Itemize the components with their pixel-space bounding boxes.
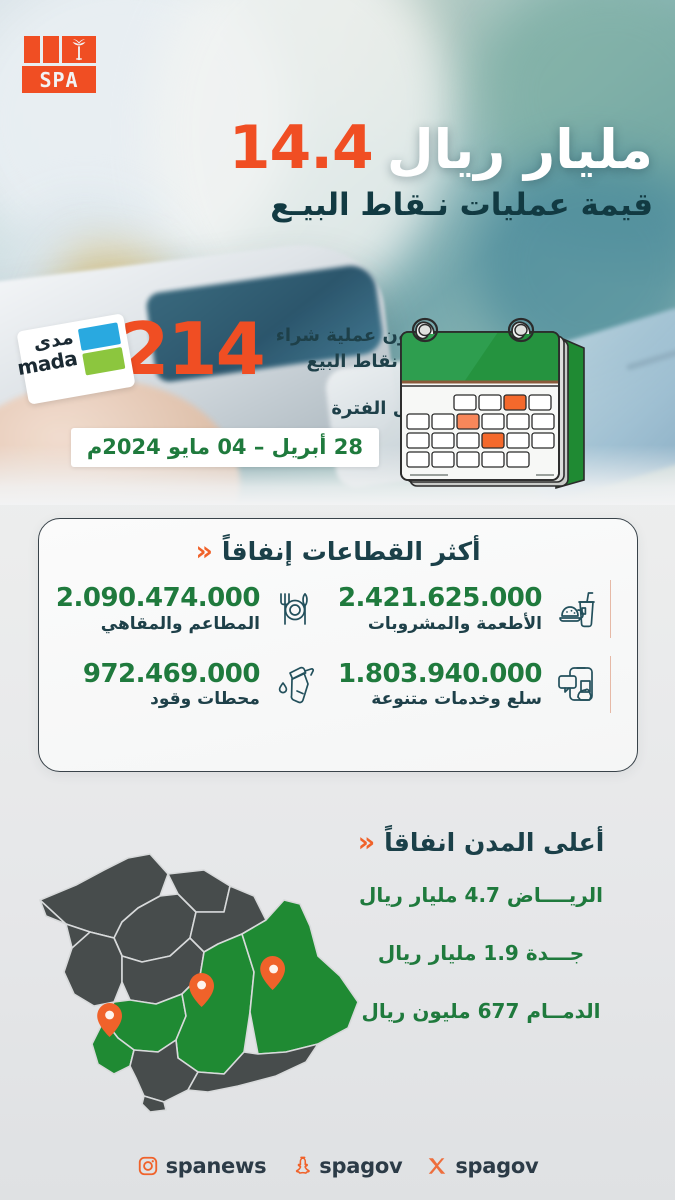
sector-text-fuel-stations: 972.469.000 محطات وقود [83,660,260,710]
footer-social-bar: spanews spagov spagov [0,1154,675,1178]
top-sectors-grid: 2.421.625.000 الأطعمة والمشروبات [65,580,611,713]
hero-headline: مليار ريال 14.4 قيمة عمليات نـقاط البيـع [229,118,653,225]
pos-count-value: 214 [119,316,263,382]
sector-value: 1.803.940.000 [338,660,542,689]
sector-name: المطاعم والمقاهي [56,614,260,634]
spa-logo-arabic-block [24,36,40,63]
sector-text-misc-goods-services: 1.803.940.000 سلع وخدمات متنوعة [338,660,542,710]
pos-period-badge: 28 أبريل – 04 مايو 2024م [71,428,379,467]
social-handle: spanews [166,1154,267,1178]
sector-item-restaurants-cafes: 2.090.474.000 المطاعم والمقاهي [46,580,328,638]
calendar-icon [388,312,603,502]
spa-logo-text: SPA [22,66,96,93]
mobile-services-icon [554,661,600,707]
spa-logo-latin-row: SPA [22,66,96,93]
mada-bar-green [82,347,125,376]
sector-name: سلع وخدمات متنوعة [338,689,542,709]
city-row: الريــــاض 4.7 مليار ريال [321,883,641,907]
sector-value: 2.090.474.000 [56,584,260,613]
sector-value: 2.421.625.000 [338,584,542,613]
sector-value: 972.469.000 [83,660,260,689]
instagram-icon [137,1155,159,1177]
sector-item-food-beverages: 2.421.625.000 الأطعمة والمشروبات [328,580,611,638]
hero-headline-row: مليار ريال 14.4 [229,118,653,178]
top-cities-heading-text: أعلى المدن انفاقاً [384,828,604,857]
top-cities-heading: أعلى المدن انفاقاً « [321,828,641,857]
mada-bar-blue [78,322,121,351]
city-row: الدمــام 677 مليون ريال [321,999,641,1023]
spa-logo: SPA [22,36,96,98]
top-cities-section: أعلى المدن انفاقاً « الريــــاض 4.7 مليا… [321,828,641,1057]
infographic-page: SPA مليار ريال 14.4 قيمة عمليات نـقاط ال… [0,0,675,1200]
fuel-nozzle-icon [272,661,318,707]
chevron-double-left-icon: « [358,829,375,856]
spa-logo-arabic-block [43,36,59,63]
sector-item-fuel-stations: 972.469.000 محطات وقود [46,656,328,714]
hero-subtitle: قيمة عمليات نـقاط البيـع [229,186,653,225]
top-cities-list: الريــــاض 4.7 مليار ريال جـــدة 1.9 ملي… [321,883,641,1023]
hero-value: 14.4 [229,118,373,178]
spa-logo-arabic-row [22,36,96,63]
mada-logo-bars [78,320,126,375]
sector-text-food-beverages: 2.421.625.000 الأطعمة والمشروبات [338,584,542,634]
social-account-snapchat[interactable]: spagov [290,1154,402,1178]
x-twitter-icon [426,1155,448,1177]
city-row: جـــدة 1.9 مليار ريال [321,941,641,965]
sector-text-restaurants-cafes: 2.090.474.000 المطاعم والمقاهي [56,584,260,634]
hero-unit: مليار ريال [387,123,653,177]
burger-drink-icon [554,586,600,632]
top-sectors-card: أكثر القطاعات إنفاقاً « [38,518,638,772]
x-glyph [426,1155,448,1177]
top-sectors-heading: أكثر القطاعات إنفاقاً « [65,537,611,566]
spa-logo-wordmark: SPA [22,66,96,93]
social-handle: spagov [319,1154,402,1178]
social-handle: spagov [455,1154,538,1178]
social-account-x-twitter[interactable]: spagov [426,1154,538,1178]
sector-name: الأطعمة والمشروبات [338,614,542,634]
sector-name: محطات وقود [83,689,260,709]
social-account-instagram[interactable]: spanews [137,1154,267,1178]
chevron-double-left-icon: « [195,538,212,565]
mada-logo-text: مدى mada [12,328,78,378]
palm-tree-icon [68,38,90,62]
cutlery-plate-icon [272,586,318,632]
sector-item-misc-goods-services: 1.803.940.000 سلع وخدمات متنوعة [328,656,611,714]
spa-logo-arabic-block [62,36,96,63]
snapchat-icon [290,1155,312,1177]
calendar-illustration [388,312,603,502]
top-sectors-heading-text: أكثر القطاعات إنفاقاً [222,537,481,566]
